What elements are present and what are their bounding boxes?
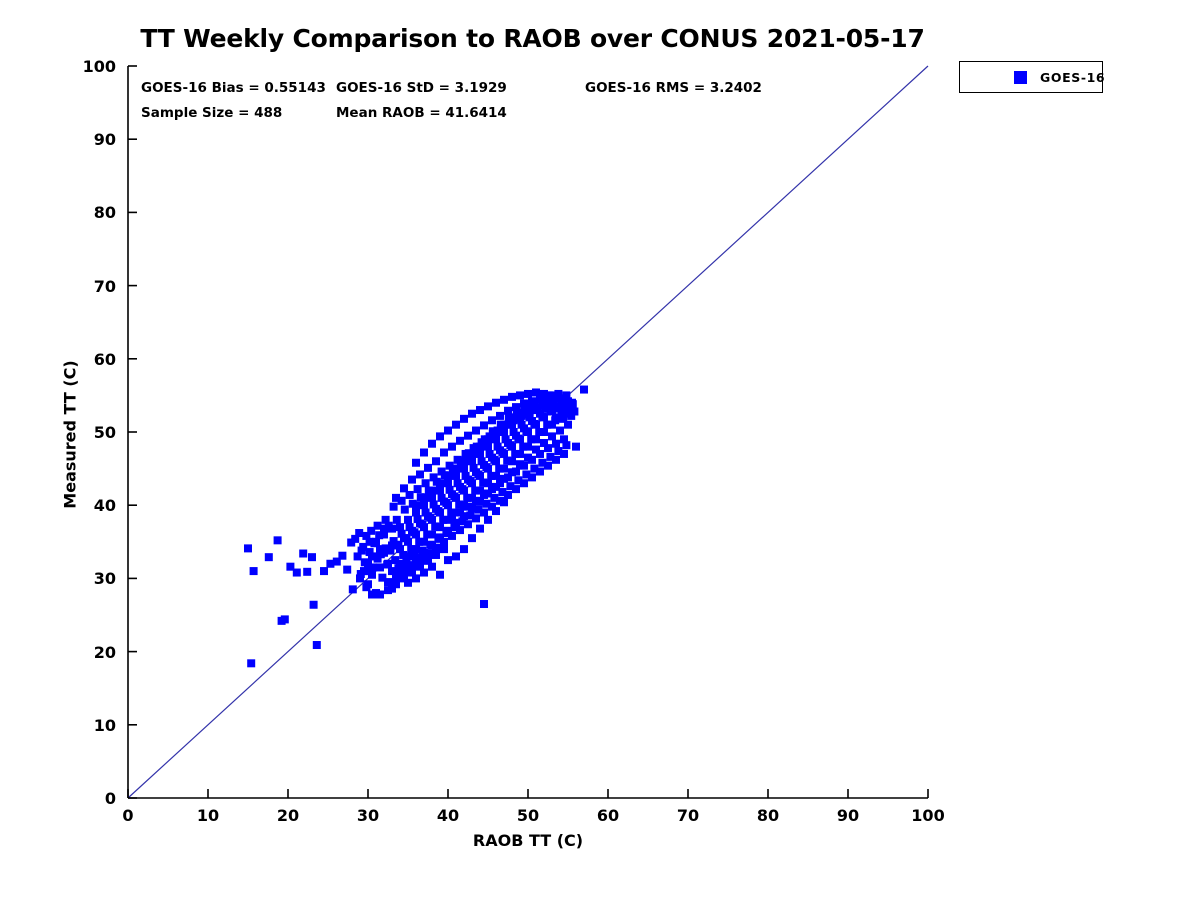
data-point — [247, 659, 255, 667]
x-tick-label: 60 — [578, 806, 638, 825]
data-point — [498, 488, 506, 496]
data-point — [392, 541, 400, 549]
data-point — [514, 409, 522, 417]
data-point — [570, 408, 578, 416]
data-point — [488, 485, 496, 493]
data-point — [492, 399, 500, 407]
data-point — [536, 450, 544, 458]
data-point — [436, 487, 444, 495]
data-point — [355, 529, 363, 537]
data-point — [299, 550, 307, 558]
data-point — [520, 424, 528, 432]
data-point — [414, 485, 422, 493]
y-axis-label: Measured TT (C) — [61, 35, 80, 835]
data-point — [265, 553, 273, 561]
data-point — [448, 514, 456, 522]
data-point — [510, 416, 518, 424]
data-point — [448, 490, 456, 498]
data-point — [486, 432, 494, 440]
data-point — [460, 545, 468, 553]
data-point — [422, 479, 430, 487]
data-point — [496, 412, 504, 420]
data-point — [474, 506, 482, 514]
data-point — [420, 494, 428, 502]
data-point — [544, 444, 552, 452]
data-point — [508, 457, 516, 465]
data-point — [392, 580, 400, 588]
data-point — [368, 571, 376, 579]
x-tick-label: 70 — [658, 806, 718, 825]
data-point — [488, 416, 496, 424]
data-point — [393, 516, 401, 524]
data-point — [420, 569, 428, 577]
data-point — [562, 391, 570, 399]
data-point — [440, 498, 448, 506]
data-point — [410, 552, 418, 560]
data-point — [500, 465, 508, 473]
data-point — [554, 390, 562, 398]
data-point — [408, 527, 416, 535]
legend-entry-label: GOES-16 — [1040, 70, 1105, 85]
data-point — [446, 462, 454, 470]
data-point — [420, 448, 428, 456]
data-point — [362, 583, 370, 591]
data-point — [532, 388, 540, 396]
data-point — [564, 421, 572, 429]
data-point — [480, 491, 488, 499]
data-point — [281, 615, 289, 623]
data-point — [426, 541, 434, 549]
data-point — [244, 544, 252, 552]
data-point — [394, 564, 402, 572]
stat-bias-annotation: GOES-16 Bias = 0.55143 — [141, 80, 326, 96]
data-point — [500, 396, 508, 404]
data-point — [406, 491, 414, 499]
data-point — [428, 494, 436, 502]
data-point — [358, 547, 366, 555]
data-point — [514, 476, 522, 484]
data-point — [436, 571, 444, 579]
data-point — [538, 399, 546, 407]
data-point — [401, 506, 409, 514]
data-point — [462, 450, 470, 458]
data-point — [522, 470, 530, 478]
data-point — [274, 536, 282, 544]
data-point — [560, 435, 568, 443]
data-point — [444, 427, 452, 435]
data-point — [416, 520, 424, 528]
data-point — [320, 567, 328, 575]
data-point — [464, 503, 472, 511]
data-point — [432, 551, 440, 559]
data-point — [492, 472, 500, 480]
data-point — [546, 394, 554, 402]
data-point — [376, 591, 384, 599]
data-point — [310, 601, 318, 609]
data-point — [390, 503, 398, 511]
data-point — [496, 479, 504, 487]
data-point — [452, 421, 460, 429]
x-tick-label: 10 — [178, 806, 238, 825]
stat-std-annotation: GOES-16 StD = 3.1929 — [336, 80, 507, 96]
data-point — [464, 432, 472, 440]
data-point — [293, 569, 301, 577]
data-point — [380, 549, 388, 557]
legend-marker-swatch — [1014, 71, 1027, 84]
data-point — [308, 553, 316, 561]
data-point — [349, 585, 357, 593]
data-point — [440, 545, 448, 553]
data-point — [494, 427, 502, 435]
data-point — [434, 535, 442, 543]
data-point — [384, 578, 392, 586]
data-point — [530, 465, 538, 473]
plot-canvas — [0, 0, 1200, 900]
data-point — [476, 406, 484, 414]
data-point — [442, 529, 450, 537]
data-point — [440, 448, 448, 456]
data-point — [500, 498, 508, 506]
data-point — [504, 439, 512, 447]
data-point — [436, 432, 444, 440]
data-point — [454, 456, 462, 464]
data-point — [530, 402, 538, 410]
x-tick-label: 80 — [738, 806, 798, 825]
data-point — [554, 447, 562, 455]
x-tick-label: 100 — [898, 806, 958, 825]
data-point — [338, 552, 346, 560]
data-point — [464, 476, 472, 484]
data-point — [343, 566, 351, 574]
data-point — [448, 443, 456, 451]
data-point — [412, 574, 420, 582]
data-point — [400, 534, 408, 542]
scatter-plot-figure: TT Weekly Comparison to RAOB over CONUS … — [0, 0, 1200, 900]
data-point — [408, 476, 416, 484]
data-point — [480, 421, 488, 429]
data-point — [558, 409, 566, 417]
data-point — [412, 459, 420, 467]
data-point — [396, 523, 404, 531]
data-point — [506, 482, 514, 490]
data-point — [428, 440, 436, 448]
data-point — [372, 552, 380, 560]
stat-sample-size-annotation: Sample Size = 488 — [141, 105, 282, 121]
data-point — [424, 512, 432, 520]
x-tick-label: 50 — [498, 806, 558, 825]
data-point — [418, 547, 426, 555]
data-point — [548, 421, 556, 429]
data-point — [546, 453, 554, 461]
data-point — [552, 440, 560, 448]
data-point — [456, 483, 464, 491]
data-point — [452, 552, 460, 560]
data-point — [472, 427, 480, 435]
data-point — [482, 500, 490, 508]
data-point — [368, 591, 376, 599]
data-point — [428, 487, 436, 495]
data-point — [522, 405, 530, 413]
data-point — [366, 538, 374, 546]
data-point — [516, 391, 524, 399]
data-point — [476, 525, 484, 533]
x-tick-label: 30 — [338, 806, 398, 825]
data-point — [580, 386, 588, 394]
data-point — [376, 563, 384, 571]
data-point — [478, 438, 486, 446]
data-point — [468, 457, 476, 465]
data-point — [412, 501, 420, 509]
data-point — [388, 525, 396, 533]
data-point — [556, 427, 564, 435]
data-point — [430, 473, 438, 481]
data-point — [450, 523, 458, 531]
data-point — [528, 417, 536, 425]
data-point — [382, 516, 390, 524]
data-point — [468, 410, 476, 418]
data-point — [364, 560, 372, 568]
data-point — [512, 432, 520, 440]
x-tick-label: 20 — [258, 806, 318, 825]
data-point — [528, 456, 536, 464]
data-point — [472, 468, 480, 476]
data-point — [432, 457, 440, 465]
data-point — [496, 446, 504, 454]
data-point — [456, 437, 464, 445]
data-point — [468, 534, 476, 542]
x-tick-label: 90 — [818, 806, 878, 825]
data-point — [484, 516, 492, 524]
data-point — [524, 390, 532, 398]
data-point — [508, 393, 516, 401]
data-point — [516, 450, 524, 458]
data-point — [313, 641, 321, 649]
data-point — [488, 454, 496, 462]
stat-rms-annotation: GOES-16 RMS = 3.2402 — [585, 80, 762, 96]
data-point — [428, 563, 436, 571]
data-point — [460, 465, 468, 473]
data-point — [484, 402, 492, 410]
data-point — [480, 600, 488, 608]
data-point — [548, 432, 556, 440]
data-point — [472, 497, 480, 505]
data-point — [380, 530, 388, 538]
data-point — [384, 586, 392, 594]
data-point — [404, 516, 412, 524]
data-point — [452, 472, 460, 480]
data-points-group — [244, 386, 588, 668]
data-point — [532, 435, 540, 443]
data-point — [424, 464, 432, 472]
data-point — [444, 556, 452, 564]
data-point — [398, 497, 406, 505]
data-point — [504, 473, 512, 481]
data-point — [412, 509, 420, 517]
data-point — [456, 509, 464, 517]
data-point — [470, 444, 478, 452]
data-point — [250, 567, 258, 575]
data-point — [480, 461, 488, 469]
data-point — [402, 558, 410, 566]
data-point — [432, 505, 440, 513]
data-point — [416, 470, 424, 478]
chart-title: TT Weekly Comparison to RAOB over CONUS … — [0, 24, 1065, 53]
data-point — [404, 579, 412, 587]
x-tick-label: 0 — [98, 806, 158, 825]
data-point — [540, 428, 548, 436]
data-point — [460, 415, 468, 423]
data-point — [356, 574, 364, 582]
data-point — [512, 468, 520, 476]
data-point — [458, 517, 466, 525]
x-axis-label: RAOB TT (C) — [128, 831, 928, 850]
data-point — [466, 511, 474, 519]
data-point — [520, 462, 528, 470]
data-point — [524, 443, 532, 451]
data-point — [538, 459, 546, 467]
data-point — [374, 522, 382, 530]
x-tick-label: 40 — [418, 806, 478, 825]
data-point — [502, 421, 510, 429]
data-point — [420, 501, 428, 509]
data-point — [490, 494, 498, 502]
data-point — [384, 560, 392, 568]
data-point — [572, 443, 580, 451]
stat-mean-raob-annotation: Mean RAOB = 41.6414 — [336, 105, 507, 121]
data-point — [438, 468, 446, 476]
data-point — [444, 479, 452, 487]
data-point — [492, 507, 500, 515]
data-point — [303, 568, 311, 576]
